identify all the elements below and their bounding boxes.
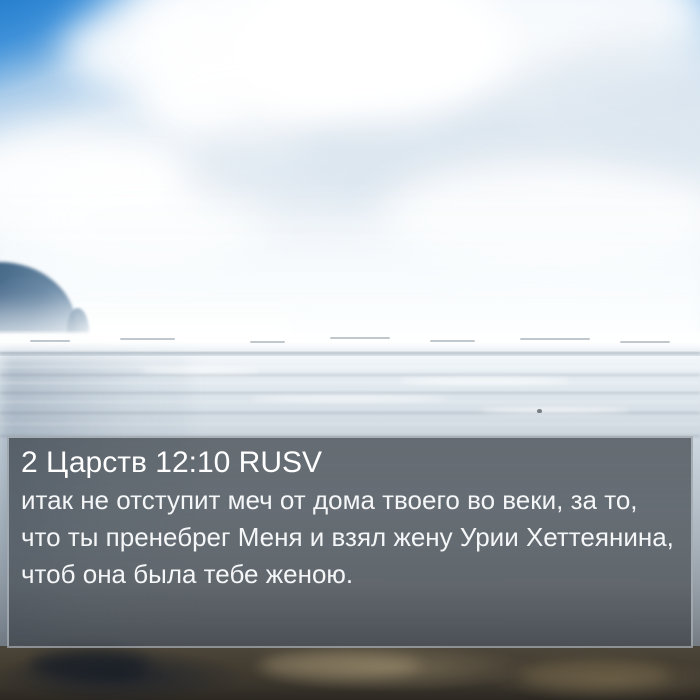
water-ripple [0,366,700,368]
sand-blotch [30,650,150,680]
surf-speck [430,340,475,342]
water-ripple [0,382,700,384]
surf-speck [30,340,70,342]
water-glint [480,408,630,413]
surf-speck [330,337,390,339]
sand-blotch [260,652,420,678]
water-ripple [0,423,700,425]
verse-text: итак не отступит меч от дома твоего во в… [21,482,679,593]
surf-speck [250,341,285,343]
verse-image-card: 2 Царств 12:10 RUSV итак не отступит меч… [0,0,700,700]
verse-reference: 2 Царств 12:10 RUSV [21,444,679,482]
water-ripple [0,392,700,394]
surf-speck [120,338,175,340]
bird [537,409,542,413]
water-ripple [0,374,700,376]
verse-overlay-panel: 2 Царств 12:10 RUSV итак не отступит меч… [7,436,693,648]
surf-speck [520,338,590,340]
surf-speck [620,341,670,343]
water-glint [250,396,450,401]
water-glint [140,368,260,373]
sand-blotch [520,660,670,690]
water-glint [400,378,570,384]
water-ripple [0,401,700,403]
